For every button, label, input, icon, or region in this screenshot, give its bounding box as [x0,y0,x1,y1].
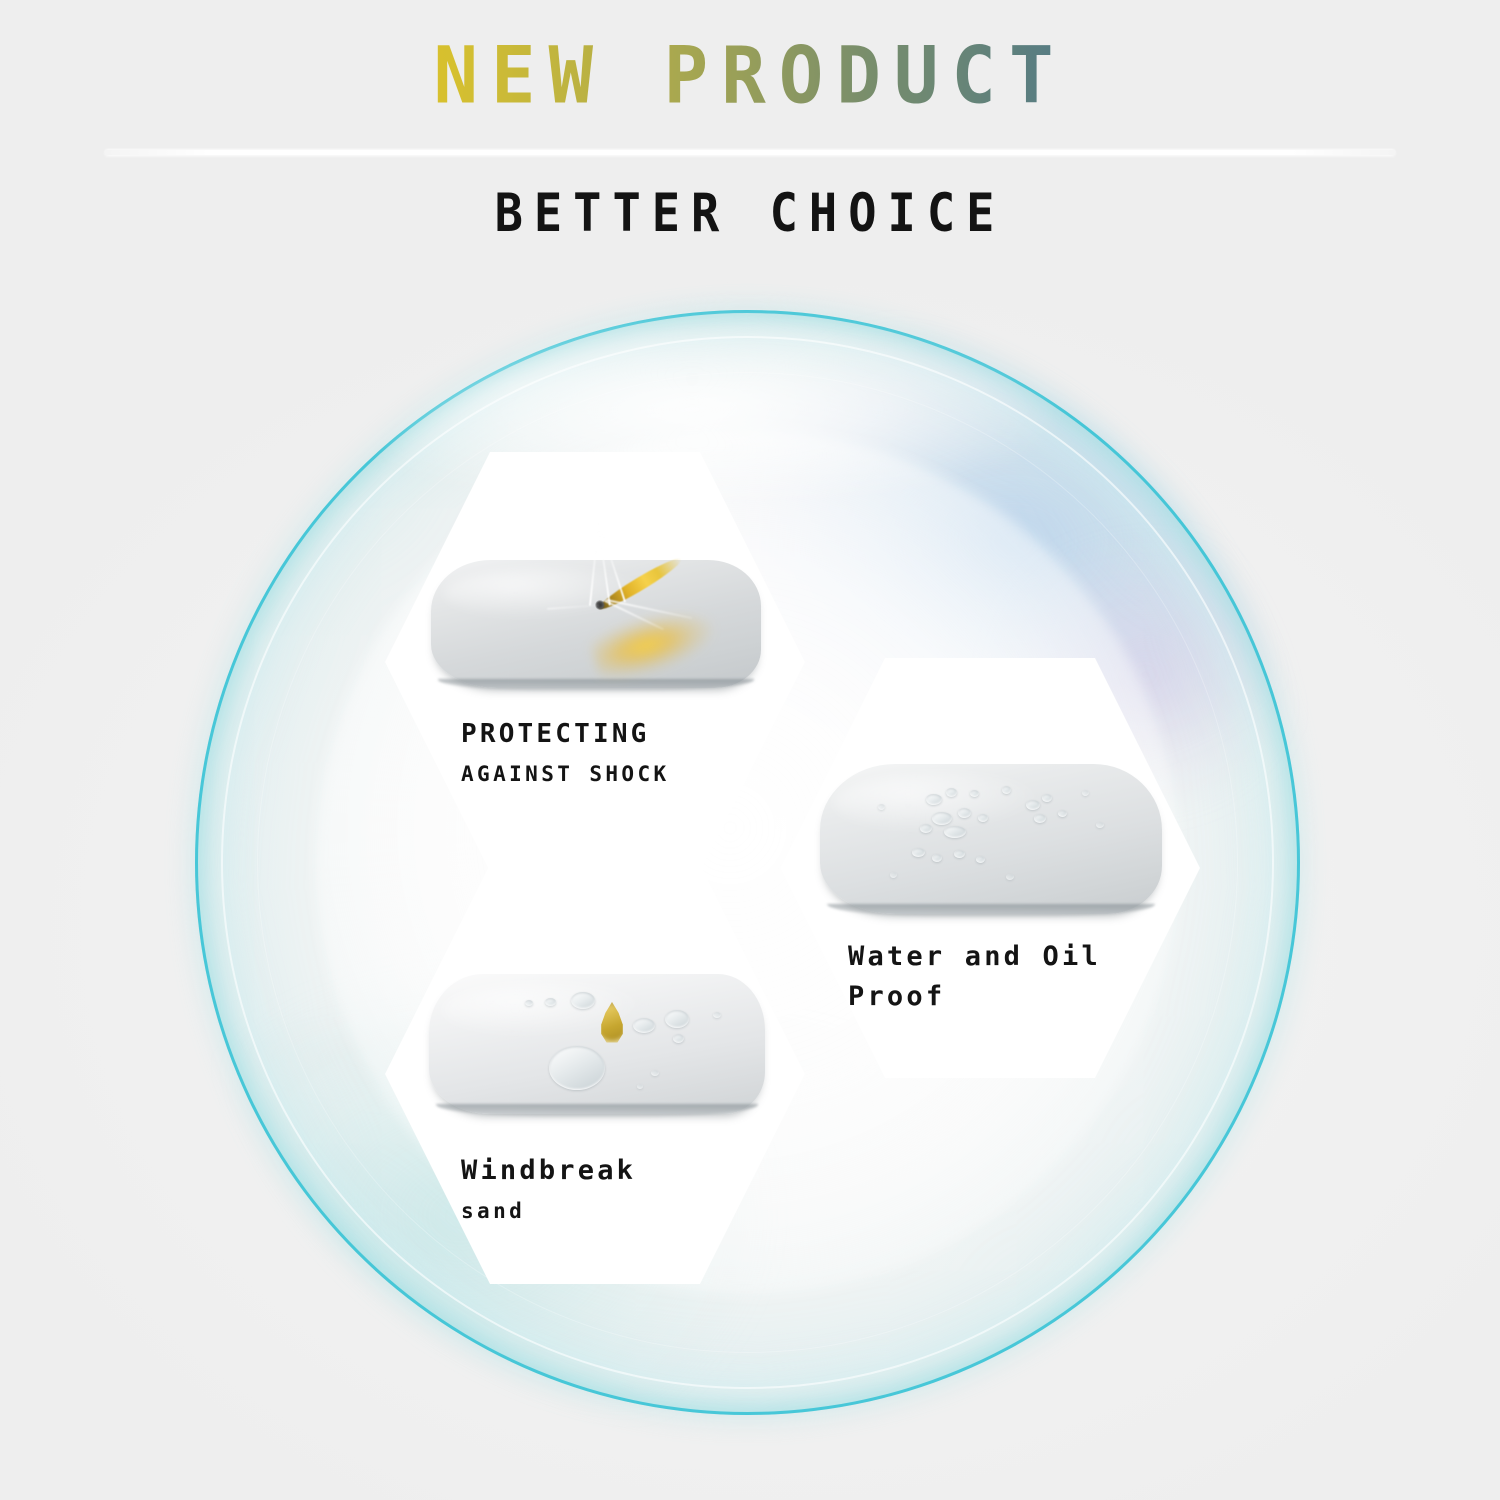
shock-lens-illustration [385,526,805,716]
feature-caption-water-line1: Water and Oil [848,940,1200,973]
windbreak-lens-illustration [385,948,805,1148]
feature-caption-shock-line1: PROTECTING [461,718,805,751]
lens-shape [820,764,1162,914]
page-subtitle: BETTER CHOICE [0,183,1500,245]
water-lens-illustration [780,738,1200,938]
lens-shape [429,974,765,1114]
title-divider [105,150,1395,155]
product-feature-poster: PROTECTING AGAINST SHOCK [0,0,1500,1500]
page-title: NEW PRODUCT [0,31,1500,120]
